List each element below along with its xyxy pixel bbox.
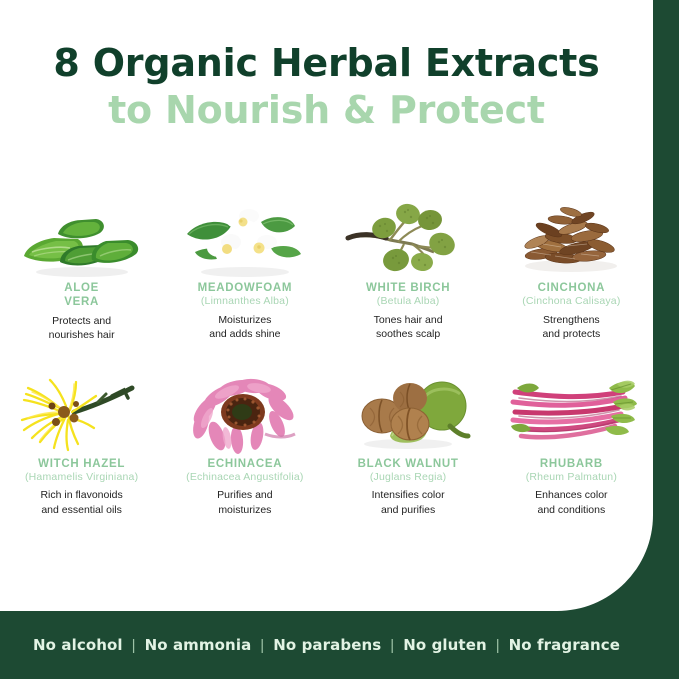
ingredient-name-line-2: VERA — [64, 296, 99, 308]
aloe-vera-image — [12, 186, 152, 278]
ingredient-rhubarb: RHUBARB (Rheum Palmatun) Enhances color … — [490, 362, 653, 517]
ingredient-description: Protects and nourishes hair — [49, 314, 115, 343]
desc-line-1: Strengthens — [542, 313, 600, 327]
ingredient-name: RHUBARB — [540, 457, 603, 471]
ingredient-name: MEADOWFOAM — [198, 281, 293, 295]
desc-line-2: soothes scalp — [374, 327, 443, 341]
ingredient-description: Intensifies color and purifies — [372, 488, 445, 517]
ingredient-description: Tones hair and soothes scalp — [374, 313, 443, 342]
ingredient-latin-name: (Hamamelis Virginiana) — [25, 471, 138, 484]
title-line-1: 8 Organic Herbal Extracts — [0, 42, 653, 85]
ingredient-latin-name: (Limnanthes Alba) — [201, 295, 289, 308]
ingredient-description: Rich in flavonoids and essential oils — [40, 488, 122, 517]
claim-separator: | — [132, 637, 136, 654]
claim-separator: | — [260, 637, 264, 654]
claim-separator: | — [390, 637, 394, 654]
ingredient-name: CINCHONA — [538, 281, 606, 295]
desc-line-2: and adds shine — [209, 327, 280, 341]
ingredient-name: BLACK WALNUT — [358, 457, 459, 471]
ingredient-description: Enhances color and conditions — [535, 488, 607, 517]
rhubarb-image — [501, 362, 641, 454]
desc-line-1: Rich in flavonoids — [40, 488, 122, 502]
ingredient-description: Purifies and moisturizes — [217, 488, 272, 517]
desc-line-2: and purifies — [372, 503, 445, 517]
claim-no-ammonia: No ammonia — [145, 636, 252, 654]
ingredient-latin-name: (Betula Alba) — [377, 295, 440, 308]
claim-separator: | — [496, 637, 500, 654]
cinchona-image — [501, 186, 641, 278]
title-line-2: to Nourish & Protect — [0, 89, 653, 132]
desc-line-1: Protects and — [49, 314, 115, 328]
ingredient-latin-name: (Cinchona Calisaya) — [522, 295, 620, 308]
desc-line-1: Enhances color — [535, 488, 607, 502]
ingredient-black-walnut: BLACK WALNUT (Juglans Regia) Intensifies… — [327, 362, 490, 517]
claim-no-gluten: No gluten — [403, 636, 487, 654]
ingredient-name-line-1: ALOE — [64, 282, 99, 294]
ingredient-white-birch: WHITE BIRCH (Betula Alba) Tones hair and… — [327, 186, 490, 343]
ingredient-aloe-vera: ALOE VERA Protects and nourishes hair — [0, 186, 163, 343]
desc-line-1: Intensifies color — [372, 488, 445, 502]
ingredient-description: Moisturizes and adds shine — [209, 313, 280, 342]
ingredient-echinacea: ECHINACEA (Echinacea Angustifolia) Purif… — [163, 362, 326, 517]
echinacea-image — [175, 362, 315, 454]
claims-bar: No alcohol | No ammonia | No parabens | … — [0, 611, 653, 679]
ingredients-grid: ALOE VERA Protects and nourishes hair — [0, 186, 653, 517]
desc-line-1: Moisturizes — [209, 313, 280, 327]
ingredient-latin-name: (Rheum Palmatun) — [526, 471, 617, 484]
desc-line-2: and protects — [542, 327, 600, 341]
ingredients-row-2: WITCH HAZEL (Hamamelis Virginiana) Rich … — [0, 362, 653, 517]
witch-hazel-image — [12, 362, 152, 454]
desc-line-2: and essential oils — [40, 503, 122, 517]
ingredient-name: ALOE VERA — [64, 281, 99, 310]
page-title: 8 Organic Herbal Extracts to Nourish & P… — [0, 42, 653, 131]
desc-line-2: and conditions — [535, 503, 607, 517]
meadowfoam-image — [175, 186, 315, 278]
ingredient-name: ECHINACEA — [208, 457, 283, 471]
claim-no-parabens: No parabens — [273, 636, 381, 654]
desc-line-2: moisturizes — [217, 503, 272, 517]
claim-no-alcohol: No alcohol — [33, 636, 123, 654]
infographic-root: 8 Organic Herbal Extracts to Nourish & P… — [0, 0, 679, 679]
ingredients-row-1: ALOE VERA Protects and nourishes hair — [0, 186, 653, 343]
desc-line-1: Purifies and — [217, 488, 272, 502]
ingredient-description: Strengthens and protects — [542, 313, 600, 342]
claim-no-fragrance: No fragrance — [509, 636, 620, 654]
ingredient-latin-name: (Juglans Regia) — [370, 471, 447, 484]
ingredient-name: WITCH HAZEL — [38, 457, 125, 471]
desc-line-2: nourishes hair — [49, 328, 115, 342]
white-birch-image — [338, 186, 478, 278]
ingredient-witch-hazel: WITCH HAZEL (Hamamelis Virginiana) Rich … — [0, 362, 163, 517]
ingredient-latin-name: (Echinacea Angustifolia) — [186, 471, 303, 484]
black-walnut-image — [338, 362, 478, 454]
ingredient-cinchona: CINCHONA (Cinchona Calisaya) Strengthens… — [490, 186, 653, 343]
desc-line-1: Tones hair and — [374, 313, 443, 327]
ingredient-meadowfoam: MEADOWFOAM (Limnanthes Alba) Moisturizes… — [163, 186, 326, 343]
ingredient-name: WHITE BIRCH — [366, 281, 450, 295]
